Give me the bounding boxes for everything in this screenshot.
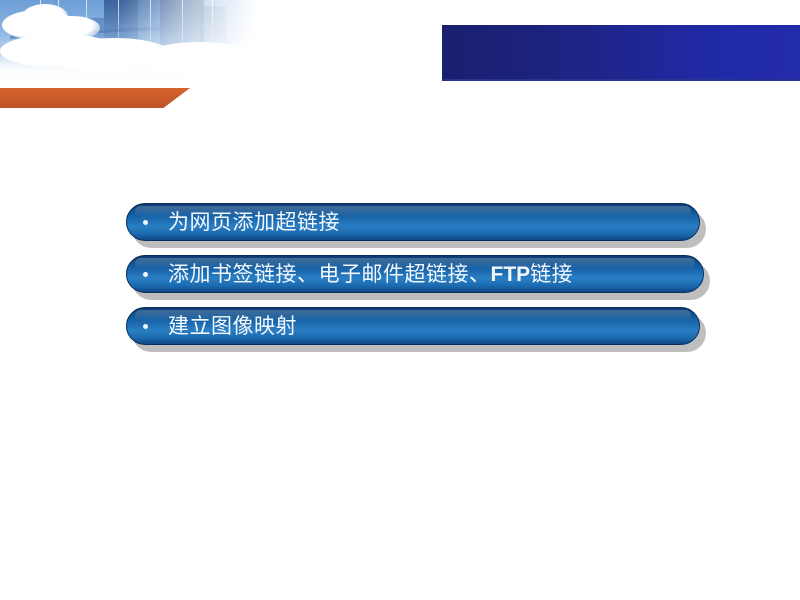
photo-white-fade [0,0,300,92]
list-item[interactable]: 建立图像映射 [126,307,716,345]
bullet-dot-icon [143,324,148,329]
bullet-bar[interactable]: 建立图像映射 [126,307,700,345]
list-item[interactable]: 为网页添加超链接 [126,203,716,241]
bullet-label: 添加书签链接、电子邮件超链接、FTP链接 [168,264,573,285]
sky-and-glass-buildings-photo [0,0,300,92]
presentation-slide: 为网页添加超链接 添加书签链接、电子邮件超链接、FTP链接 建立图像映射 [0,0,800,600]
list-item[interactable]: 添加书签链接、电子邮件超链接、FTP链接 [126,255,716,293]
bullet-list: 为网页添加超链接 添加书签链接、电子邮件超链接、FTP链接 建立图像映射 [126,203,716,359]
bullet-label-latin: FTP [491,263,531,286]
navy-header-banner [442,25,800,81]
bullet-label: 建立图像映射 [168,316,297,337]
bullet-bar[interactable]: 添加书签链接、电子邮件超链接、FTP链接 [126,255,704,293]
bullet-dot-icon [143,272,148,277]
bullet-dot-icon [143,220,148,225]
orange-accent-band [0,88,190,108]
bullet-label: 为网页添加超链接 [168,212,340,233]
bullet-bar[interactable]: 为网页添加超链接 [126,203,700,241]
